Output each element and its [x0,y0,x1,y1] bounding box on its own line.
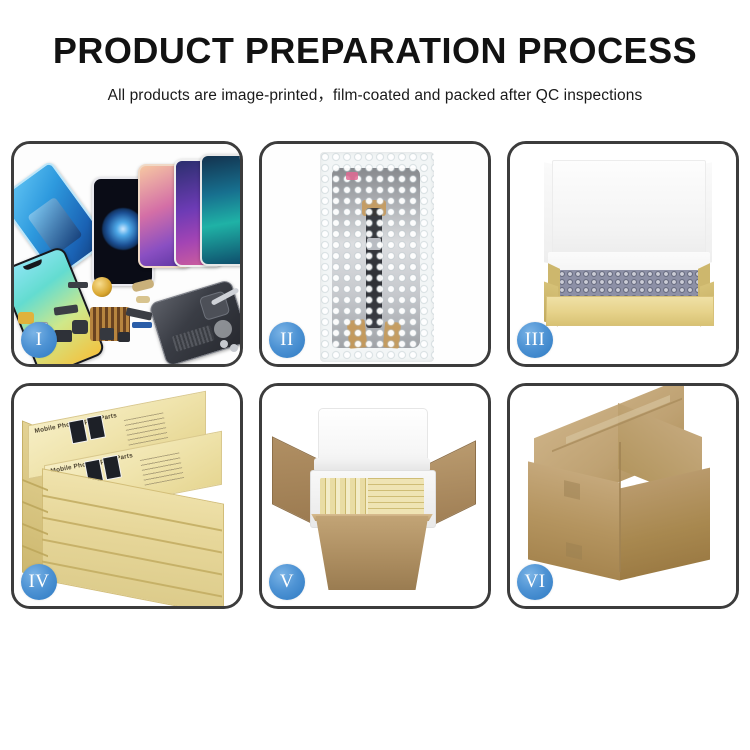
spare-part-icon [100,328,114,340]
page-title: PRODUCT PREPARATION PROCESS [0,33,750,69]
header: PRODUCT PREPARATION PROCESS All products… [0,0,750,105]
lcd-screen-icon [332,168,420,348]
step-card-3: III [507,141,739,367]
product-preparation-infographic: PRODUCT PREPARATION PROCESS All products… [0,0,750,750]
carton-flap-tab-icon [564,480,580,500]
step-badge-6: VI [517,564,553,600]
spare-part-icon [214,320,232,338]
flex-cable-pad-icon [362,200,386,216]
step-badge-5: V [269,564,305,600]
spare-part-icon [132,322,152,328]
step-card-2: II [259,141,491,367]
step-card-5: V [259,383,491,609]
tape-strip-icon [347,319,368,349]
flex-cable-icon [366,208,382,328]
flex-chip-icon [367,238,381,250]
carton-front-panel-icon [528,461,620,580]
steps-grid: I II [11,141,739,609]
copper-coil-part-icon [92,277,112,297]
carton-vertical-edge-icon [619,442,621,572]
spare-part-icon [68,282,88,288]
tape-strip-icon [383,321,401,348]
kraft-box-front-icon [546,296,714,326]
phone-teal-icon [200,154,240,266]
qc-sticker-icon [346,172,358,180]
carton-side-panel-icon [620,468,710,581]
step-card-1: I [11,141,243,367]
step-card-6: VI [507,383,739,609]
screw-part-icon [220,340,228,348]
step-card-4: Mobile Phone Spare Parts Mobile Phone Sp… [11,383,243,609]
packed-retail-boxes-icon [320,478,424,520]
carton-body-icon [308,516,436,590]
step-badge-2: II [269,322,305,358]
spare-part-icon [118,332,130,342]
step-badge-3: III [517,322,553,358]
step-badge-1: I [21,322,57,358]
bubble-wrap-icon [320,152,434,362]
spare-part-icon [136,296,150,303]
page-subtitle: All products are image-printed，film-coat… [0,83,750,105]
spare-part-icon [72,320,88,334]
step-badge-4: IV [21,564,57,600]
screw-part-icon [230,344,238,352]
